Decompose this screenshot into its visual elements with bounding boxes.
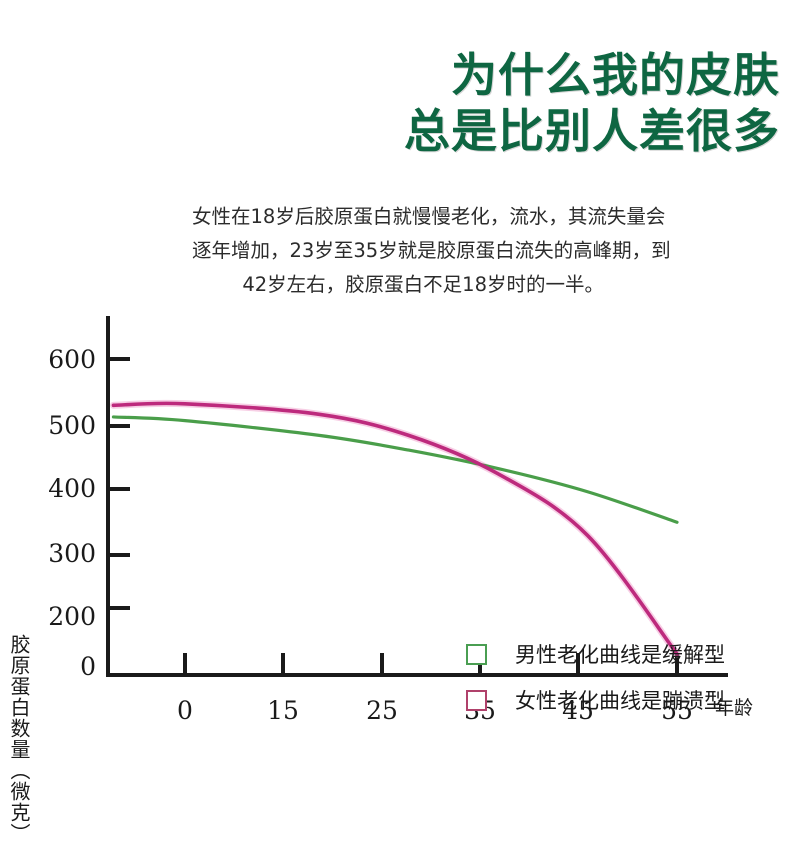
intro-line-2: 逐年增加，23岁至35岁就是胶原蛋白流失的高峰期，到 — [192, 234, 604, 268]
y-tick-label: 0 — [80, 652, 96, 681]
chart-region: 胶原蛋白数量（微克） 600 500 400 — [0, 300, 790, 759]
y-tick-label: 300 — [48, 539, 96, 568]
legend-label-female: 女性老化曲线是蹦溃型 — [515, 685, 725, 715]
x-tick-label: 25 — [366, 696, 398, 725]
legend-item-female: 女性老化曲线是蹦溃型 — [466, 682, 725, 718]
page-title-line-2: 总是比别人差很多 — [180, 102, 780, 160]
y-axis-tick-labels: 600 500 400 300 200 0 — [48, 345, 96, 681]
legend-swatch-square-icon — [466, 690, 487, 711]
intro-line-1: 女性在18岁后胶原蛋白就慢慢老化，流水，其流失量会 — [192, 200, 604, 234]
series-line-female-glow — [113, 403, 677, 654]
legend-swatch-square-icon — [466, 644, 487, 665]
x-tick-label: 0 — [177, 696, 193, 725]
header-block: 为什么我的皮肤 总是比别人差很多 — [180, 46, 780, 160]
y-tick-label: 200 — [48, 602, 96, 631]
intro-line-3: 42岁左右，胶原蛋白不足18岁时的一半。 — [192, 268, 604, 302]
chart-series-group — [113, 403, 677, 654]
page-title-line-1: 为什么我的皮肤 — [180, 46, 780, 104]
y-axis-ticks — [108, 359, 130, 608]
y-tick-label: 600 — [48, 345, 96, 374]
y-tick-label: 500 — [48, 411, 96, 440]
legend-item-male: 男性老化曲线是缓解型 — [466, 636, 725, 672]
series-line-female — [113, 403, 677, 654]
intro-paragraph: 女性在18岁后胶原蛋白就慢慢老化，流水，其流失量会 逐年增加，23岁至35岁就是… — [192, 200, 604, 302]
chart-legend: 男性老化曲线是缓解型 女性老化曲线是蹦溃型 — [466, 636, 725, 728]
y-tick-label: 400 — [48, 474, 96, 503]
legend-label-male: 男性老化曲线是缓解型 — [515, 639, 725, 669]
chart-axes — [106, 316, 728, 677]
x-tick-label: 15 — [267, 696, 299, 725]
